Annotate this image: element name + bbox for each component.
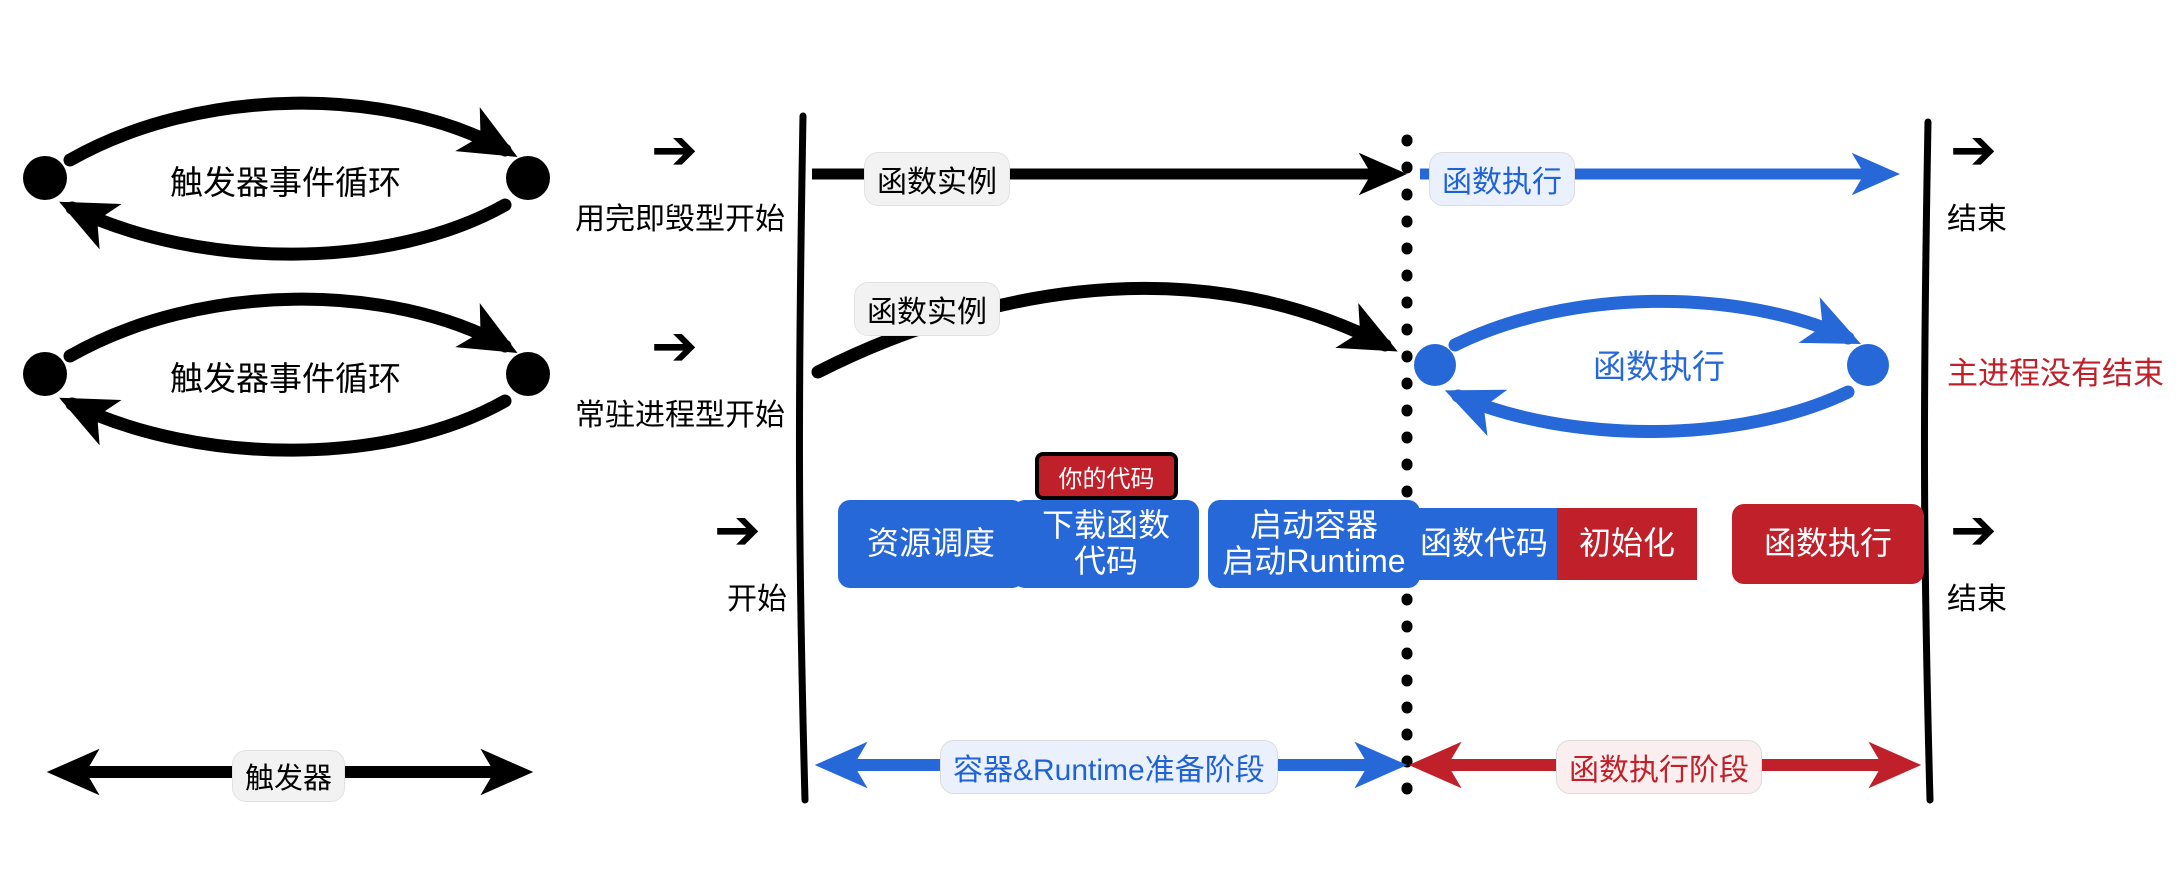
row2-right-node <box>1847 344 1889 386</box>
trigger-loop-2-label: 触发器事件循环 <box>170 352 401 400</box>
row2-instance-pill: 函数实例 <box>854 282 1000 336</box>
prepare-box-download-code[interactable]: 下载函数 代码 <box>1013 500 1199 588</box>
row2-loop-arrow-bottom <box>1458 392 1848 432</box>
row1-execution-pill: 函数执行 <box>1429 152 1575 206</box>
prepare-box-download-code-line1: 下载函数 <box>1042 508 1170 544</box>
prepare-box-resource-scheduling[interactable]: 资源调度 <box>838 500 1024 588</box>
loop2-arrow-top <box>70 299 505 356</box>
loop1-arrow-top <box>70 103 505 160</box>
loop1-left-node <box>23 156 67 200</box>
row2-left-node <box>1414 344 1456 386</box>
row2-execution-label: 函数执行 <box>1593 340 1725 388</box>
prepare-phase-pill: 容器&Runtime准备阶段 <box>940 740 1278 794</box>
your-code-badge[interactable]: 你的代码 <box>1035 452 1178 500</box>
start-arrow-icon-2: ➔ <box>651 318 698 374</box>
exec-box-function-code[interactable]: 函数代码 <box>1411 508 1557 580</box>
end-label-1: 结束 <box>1947 194 2007 238</box>
row2-loop-arrow-top <box>1455 301 1848 345</box>
start-label-3: 开始 <box>727 574 787 618</box>
prepare-box-start-container-runtime[interactable]: 启动容器 启动Runtime <box>1208 500 1420 588</box>
timeline-right-boundary <box>1924 122 1930 800</box>
prepare-box-start-container-line2: 启动Runtime <box>1222 544 1405 580</box>
end-label-2: 结束 <box>1947 574 2007 618</box>
prepare-box-download-code-line2: 代码 <box>1074 544 1138 580</box>
trigger-loop-1-label: 触发器事件循环 <box>170 156 401 204</box>
loop2-arrow-bottom <box>72 401 505 450</box>
exec-box-initialization[interactable]: 初始化 <box>1557 508 1697 580</box>
execution-phase-pill: 函数执行阶段 <box>1556 740 1762 794</box>
end-arrow-icon-1: ➔ <box>1950 122 1997 178</box>
diagram-canvas: 触发器事件循环 触发器事件循环 触发器 ➔ 用完即毁型开始 ➔ 常驻进程型开始 … <box>0 0 2182 880</box>
exec-box-function-execution[interactable]: 函数执行 <box>1732 504 1924 584</box>
start-label-1: 用完即毁型开始 <box>575 194 785 238</box>
start-arrow-icon-3: ➔ <box>714 502 761 558</box>
loop1-arrow-bottom <box>72 205 505 254</box>
start-arrow-icon-1: ➔ <box>651 122 698 178</box>
trigger-axis-label: 触发器 <box>232 750 345 802</box>
loop1-right-node <box>506 156 550 200</box>
start-label-2: 常驻进程型开始 <box>575 390 785 434</box>
loop2-right-node <box>506 352 550 396</box>
row1-instance-pill: 函数实例 <box>864 152 1010 206</box>
timeline-left-boundary <box>799 116 805 800</box>
loop2-left-node <box>23 352 67 396</box>
main-process-not-ended-label: 主进程没有结束 <box>1947 348 2164 393</box>
end-arrow-icon-2: ➔ <box>1950 502 1997 558</box>
prepare-box-start-container-line1: 启动容器 <box>1250 508 1378 544</box>
